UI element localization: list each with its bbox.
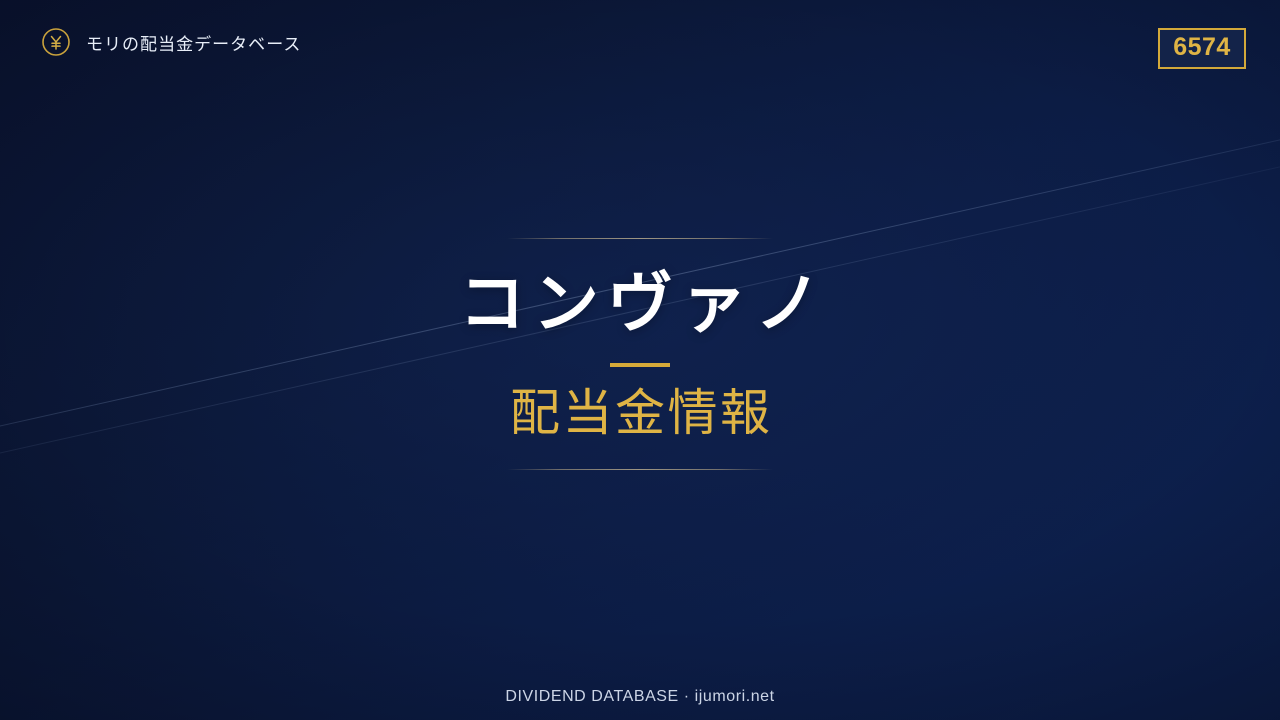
footer-text: DIVIDEND DATABASE · ijumori.net: [505, 688, 774, 705]
yen-circle-icon: [40, 26, 72, 58]
page-subtitle: 配当金情報: [508, 383, 773, 443]
hero-divider-bottom: [507, 469, 773, 470]
hero-divider-top: [507, 238, 773, 239]
brand[interactable]: モリの配当金データベース: [40, 26, 301, 58]
page-header: モリの配当金データベース 6574: [0, 0, 1280, 88]
ticker-badge[interactable]: 6574: [1158, 28, 1246, 69]
brand-label: モリの配当金データベース: [86, 30, 301, 55]
hero-section: コンヴァノ 配当金情報: [0, 238, 1280, 470]
gold-dash-icon: [610, 363, 670, 367]
company-name: コンヴァノ: [451, 267, 829, 341]
page-footer: DIVIDEND DATABASE · ijumori.net: [0, 688, 1280, 706]
